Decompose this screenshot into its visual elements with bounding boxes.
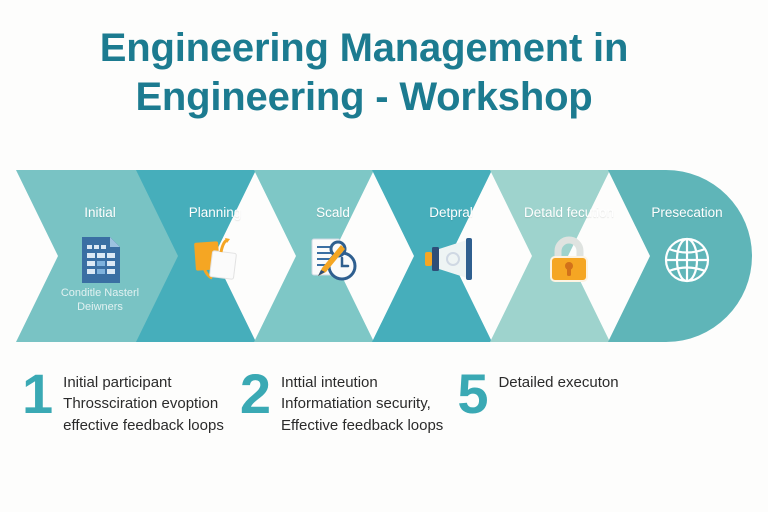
item-text: Detailed executon bbox=[498, 366, 618, 393]
process-stage-presecation[interactable]: Presecation bbox=[628, 170, 746, 342]
stage-label: Initial bbox=[38, 206, 162, 220]
stage-subtext-line-1: Conditle Nasterl bbox=[38, 287, 162, 301]
document-pen-clock-icon bbox=[305, 232, 361, 288]
list-item[interactable]: 5 Detailed executon bbox=[457, 366, 618, 420]
stage-label: Planning bbox=[156, 206, 274, 220]
item-line-1: Initial participant bbox=[63, 372, 224, 393]
item-line-3: Effective feedback loops bbox=[281, 415, 443, 436]
process-chevron-band: Initial bbox=[16, 170, 752, 342]
stage-label: Presecation bbox=[628, 206, 746, 220]
page-title: Engineering Management in Engineering - … bbox=[0, 24, 768, 122]
stage-subtext: Conditle Nasterl Deiwners bbox=[38, 287, 162, 315]
padlock-icon bbox=[541, 232, 597, 288]
stage-label: Detald fecution bbox=[510, 206, 628, 220]
item-line-2: Informatiation security, bbox=[281, 393, 443, 414]
item-text: Initial participant Throssciration evopt… bbox=[63, 366, 224, 436]
list-item[interactable]: 2 Inttial inteution Informatiation secur… bbox=[240, 366, 443, 436]
item-line-3: effective feedback loops bbox=[63, 415, 224, 436]
megaphone-icon bbox=[423, 232, 479, 288]
title-line-2: Engineering - Workshop bbox=[0, 73, 728, 122]
process-stage-detald-fecution[interactable]: Detald fecution bbox=[510, 170, 628, 342]
item-number: 1 bbox=[22, 368, 53, 420]
process-stage-detpral[interactable]: Detpral bbox=[392, 170, 510, 342]
item-line-1: Inttial inteution bbox=[281, 372, 443, 393]
list-item[interactable]: 1 Initial participant Throssciration evo… bbox=[22, 366, 224, 436]
sticky-notes-icon bbox=[187, 232, 243, 288]
stage-subtext-line-2: Deiwners bbox=[38, 301, 162, 315]
numbered-items-list: 1 Initial participant Throssciration evo… bbox=[22, 366, 752, 436]
item-text: Inttial inteution Informatiation securit… bbox=[281, 366, 443, 436]
process-stage-initial[interactable]: Initial bbox=[38, 170, 162, 342]
spreadsheet-document-icon bbox=[72, 232, 128, 288]
globe-icon bbox=[659, 232, 715, 288]
item-line-1: Detailed executon bbox=[498, 372, 618, 393]
item-number: 2 bbox=[240, 368, 271, 420]
stage-label: Scald bbox=[274, 206, 392, 220]
item-number: 5 bbox=[457, 368, 488, 420]
item-line-2: Throssciration evoption bbox=[63, 393, 224, 414]
title-line-1: Engineering Management in bbox=[0, 24, 728, 73]
stage-label: Detpral bbox=[392, 206, 510, 220]
process-stage-scald[interactable]: Scald bbox=[274, 170, 392, 342]
process-stage-planning[interactable]: Planning bbox=[156, 170, 274, 342]
